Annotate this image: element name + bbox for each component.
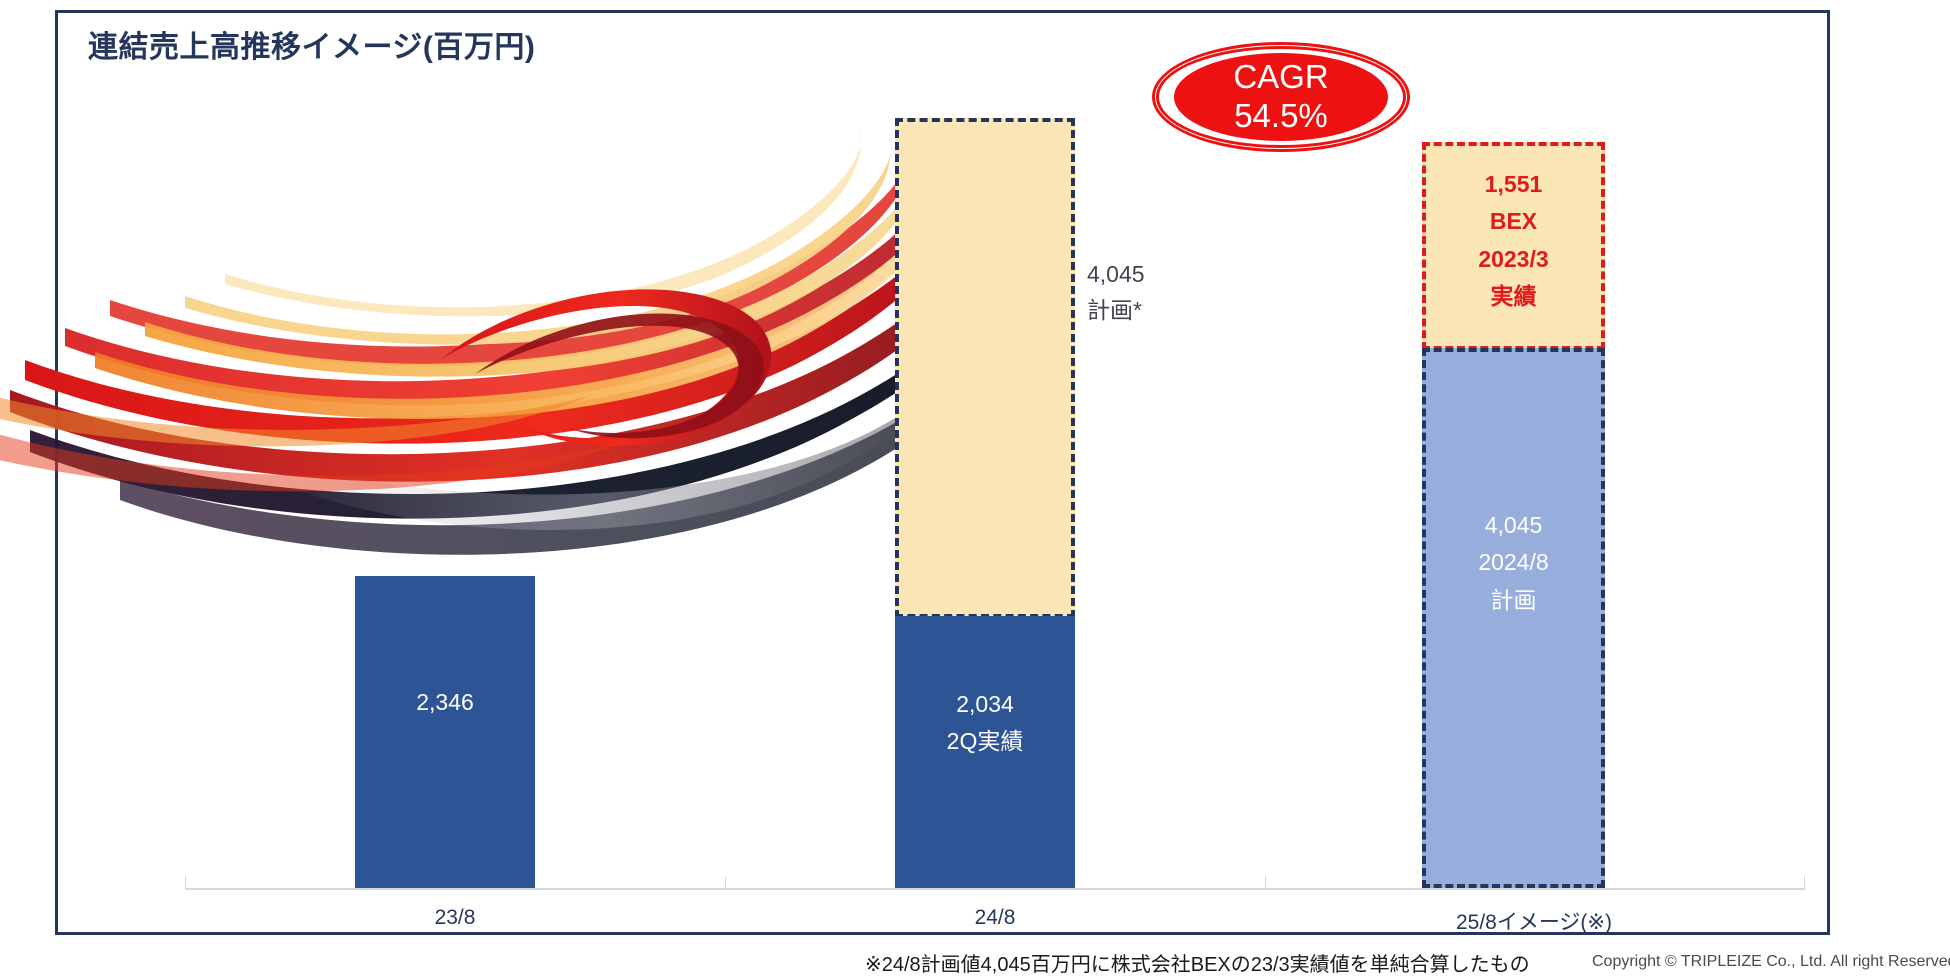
bar-segment-25-8-bex: 1,551 BEX 2023/3 実績 bbox=[1422, 142, 1605, 350]
bar-side-label-24-8-plan: 4,045 計画* bbox=[1087, 257, 1145, 328]
axis-tick-0 bbox=[185, 876, 186, 890]
copyright-text: Copyright © TRIPLEIZE Co., Ltd. All righ… bbox=[1592, 953, 1950, 971]
category-label-1: 24/8 bbox=[725, 906, 1265, 930]
bar-chart: 2,346 2,034 2Q実績 4,045 計画* 1,551 BEX 202… bbox=[185, 60, 1805, 890]
bar-label-24-8-actual: 2,034 2Q実績 bbox=[895, 686, 1075, 761]
bar-label-23-8-actual: 2,346 bbox=[355, 684, 535, 721]
bar-label-25-8-bex: 1,551 BEX 2023/3 実績 bbox=[1426, 166, 1601, 315]
category-label-0: 23/8 bbox=[185, 906, 725, 930]
bar-segment-23-8-actual: 2,346 bbox=[355, 576, 535, 888]
axis-tick-1 bbox=[725, 876, 726, 890]
axis-tick-3 bbox=[1804, 876, 1805, 890]
bar-segment-24-8-actual: 2,034 2Q実績 bbox=[895, 616, 1075, 888]
category-label-2: 25/8イメージ(※) bbox=[1264, 906, 1804, 936]
bar-segment-25-8-plan: 4,045 2024/8 計画 bbox=[1422, 348, 1605, 888]
bar-segment-24-8-plan bbox=[895, 118, 1075, 618]
bar-label-25-8-plan: 4,045 2024/8 計画 bbox=[1426, 507, 1601, 619]
footnote-text: ※24/8計画値4,045百万円に株式会社BEXの23/3実績値を単純合算したも… bbox=[865, 948, 1530, 977]
axis-tick-2 bbox=[1265, 876, 1266, 890]
x-axis-line bbox=[185, 888, 1805, 890]
